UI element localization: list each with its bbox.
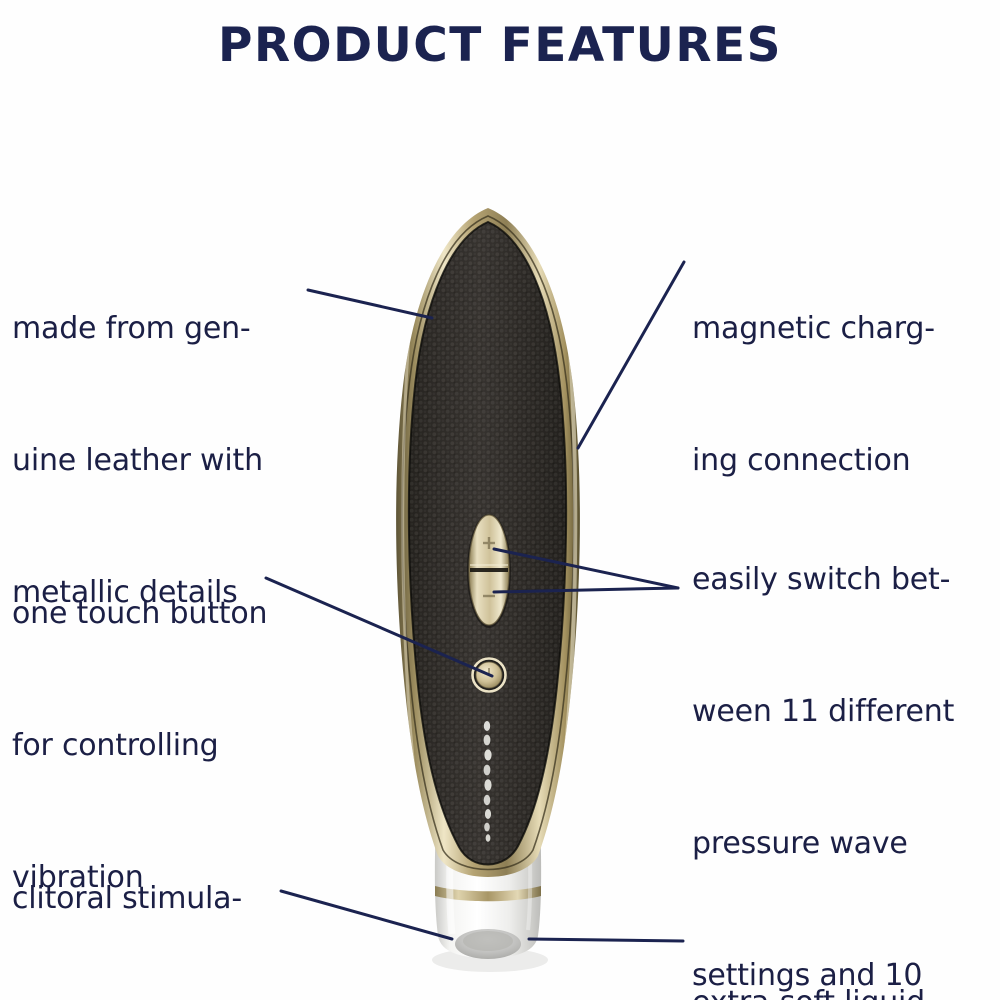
leader-onetouch [266, 578, 492, 676]
leader-leather [308, 290, 432, 318]
leader-magnetic [578, 262, 684, 448]
leader-rocker-plus [494, 549, 678, 588]
infographic-page: PRODUCT FEATURES [0, 0, 1000, 1000]
leader-lines [0, 0, 1000, 1000]
leader-silicone [529, 939, 683, 941]
leader-rocker-minus [494, 588, 678, 592]
leader-clitoral [281, 891, 452, 939]
